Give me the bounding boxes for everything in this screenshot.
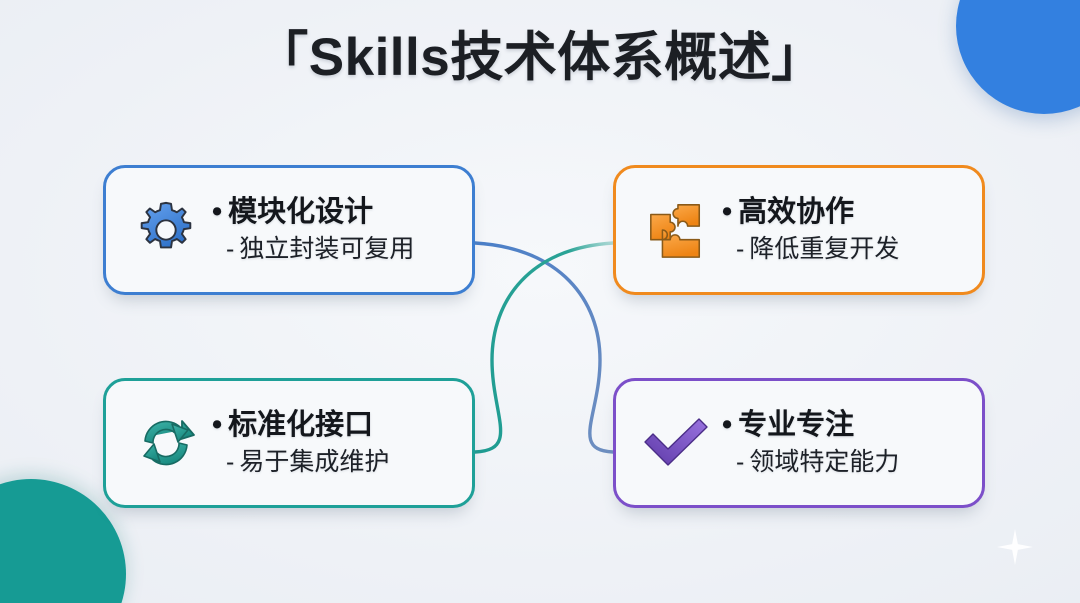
bullet-marker: • [722, 196, 732, 228]
sync-arrows-icon [120, 411, 212, 475]
card-standard-interface[interactable]: •标准化接口 -易于集成维护 [103, 378, 475, 508]
card-text-block: •模块化设计 -独立封装可复用 [212, 195, 472, 265]
card-text-block: •标准化接口 -易于集成维护 [212, 408, 472, 478]
connector-lines [0, 0, 1080, 603]
bullet-marker: • [212, 196, 222, 228]
card-subtitle: -独立封装可复用 [212, 234, 458, 265]
card-subtitle: -领域特定能力 [722, 447, 968, 478]
card-professional-focus[interactable]: •专业专注 -领域特定能力 [613, 378, 985, 508]
card-subtitle-text: 领域特定能力 [749, 448, 899, 476]
bullet-marker: • [212, 409, 222, 441]
slide-canvas: 「Skills技术体系概述」 [0, 0, 1080, 603]
puzzle-icon [630, 199, 722, 261]
card-subtitle: -降低重复开发 [722, 234, 968, 265]
dash-marker: - [226, 448, 234, 476]
card-subtitle: -易于集成维护 [212, 447, 458, 478]
card-title: •模块化设计 [212, 195, 458, 230]
card-title-text: 标准化接口 [228, 409, 373, 441]
check-icon [630, 414, 722, 472]
card-title: •高效协作 [722, 195, 968, 230]
dash-marker: - [736, 448, 744, 476]
card-subtitle-text: 降低重复开发 [749, 235, 899, 263]
card-subtitle-text: 独立封装可复用 [239, 235, 414, 263]
gear-icon [120, 199, 212, 261]
card-title: •专业专注 [722, 408, 968, 443]
card-title-text: 专业专注 [738, 409, 854, 441]
connector-line-blue [475, 243, 613, 452]
card-efficient-collaboration[interactable]: •高效协作 -降低重复开发 [613, 165, 985, 295]
card-subtitle-text: 易于集成维护 [239, 448, 389, 476]
card-title-text: 模块化设计 [228, 196, 373, 228]
dash-marker: - [736, 235, 744, 263]
card-text-block: •高效协作 -降低重复开发 [722, 195, 982, 265]
sparkle-icon [997, 529, 1033, 565]
card-title: •标准化接口 [212, 408, 458, 443]
card-modular-design[interactable]: •模块化设计 -独立封装可复用 [103, 165, 475, 295]
card-text-block: •专业专注 -领域特定能力 [722, 408, 982, 478]
bullet-marker: • [722, 409, 732, 441]
card-title-text: 高效协作 [738, 196, 854, 228]
connector-line-teal [475, 243, 613, 452]
dash-marker: - [226, 235, 234, 263]
page-title: 「Skills技术体系概述」 [0, 28, 1080, 89]
